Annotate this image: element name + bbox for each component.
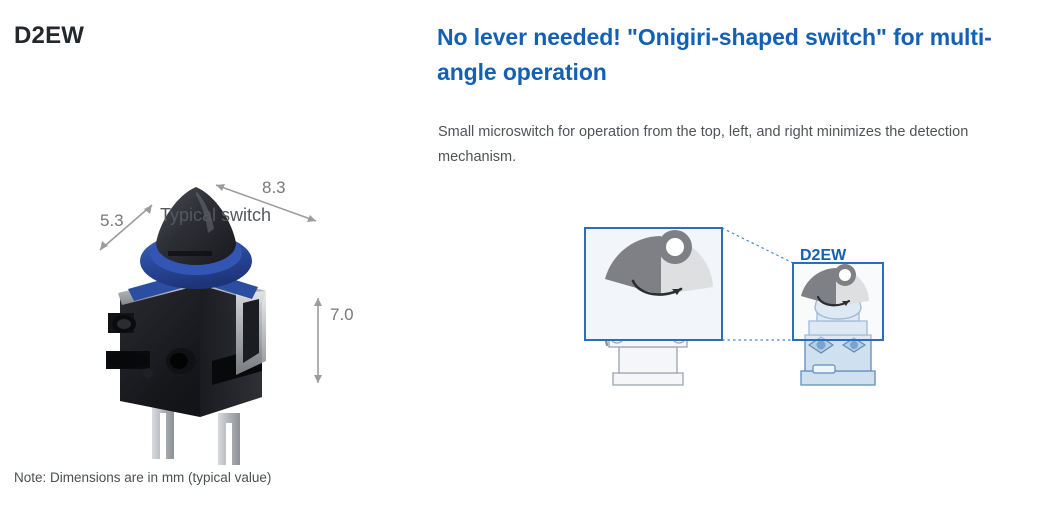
- switch-actuator: [156, 187, 236, 265]
- page-title: D2EW: [14, 22, 84, 50]
- typical-switch-caption: Typical switch: [160, 205, 271, 226]
- d2ew-caption: D2EW: [800, 247, 846, 265]
- dimension-label-width: 8.3: [262, 178, 286, 198]
- dimension-label-depth: 5.3: [100, 211, 124, 231]
- left-column: D2EW: [0, 0, 430, 506]
- feature-headline: No lever needed! "Onigiri-shaped switch"…: [437, 20, 997, 90]
- feature-description: Small microswitch for operation from the…: [438, 120, 983, 171]
- connector-lines: [722, 228, 793, 340]
- right-column: No lever needed! "Onigiri-shaped switch"…: [437, 0, 1040, 506]
- dimension-note: Note: Dimensions are in mm (typical valu…: [14, 470, 271, 485]
- comparison-diagram: [577, 195, 897, 395]
- dimension-label-height: 7.0: [330, 305, 354, 325]
